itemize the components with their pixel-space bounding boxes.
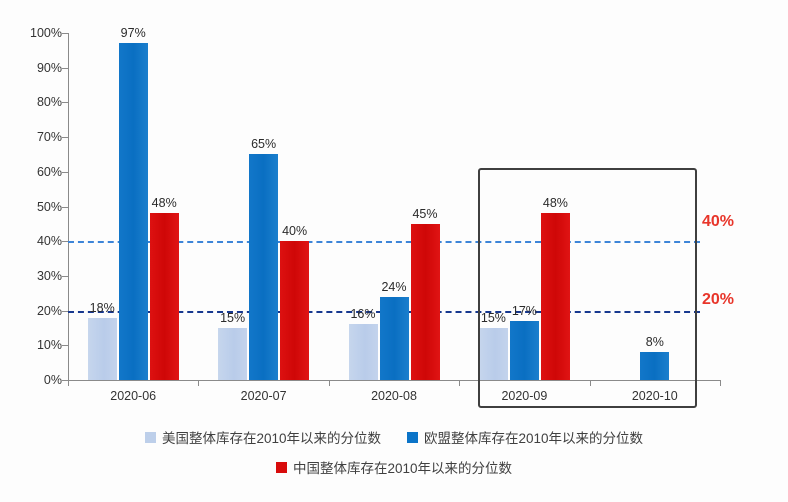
y-tick-label: 80%: [37, 95, 62, 109]
legend-row-1: 美国整体库存在2010年以来的分位数 欧盟整体库存在2010年以来的分位数: [0, 425, 788, 449]
y-tick-label: 20%: [37, 304, 62, 318]
legend-label-eu: 欧盟整体库存在2010年以来的分位数: [424, 427, 643, 447]
legend-item-us[interactable]: 美国整体库存在2010年以来的分位数: [145, 427, 381, 447]
x-axis-label-2020-07: 2020-07: [241, 389, 287, 403]
legend-row-2: 中国整体库存在2010年以来的分位数: [0, 455, 788, 479]
y-tick-label: 0%: [44, 373, 62, 387]
y-tick-label: 30%: [37, 269, 62, 283]
y-tick-label: 10%: [37, 338, 62, 352]
callout-40-percent: 40%: [702, 213, 734, 231]
x-axis-label-2020-08: 2020-08: [371, 389, 417, 403]
legend-swatch-us: [145, 432, 156, 443]
bar-label-cn-2020-08: 45%: [412, 207, 437, 221]
bar-label-eu-2020-07: 65%: [251, 137, 276, 151]
y-tick-label: 100%: [30, 26, 62, 40]
bar-label-eu-2020-08: 24%: [381, 280, 406, 294]
legend-item-cn[interactable]: 中国整体库存在2010年以来的分位数: [276, 457, 512, 477]
x-axis-label-2020-10: 2020-10: [632, 389, 678, 403]
y-tick-mark: [62, 102, 68, 103]
bar-label-us-2020-06: 18%: [90, 301, 115, 315]
legend-label-cn: 中国整体库存在2010年以来的分位数: [293, 457, 512, 477]
x-tick-mark: [198, 380, 199, 386]
bar-label-us-2020-08: 16%: [350, 307, 375, 321]
legend-swatch-eu: [407, 432, 418, 443]
y-tick-mark: [62, 345, 68, 346]
x-tick-mark: [459, 380, 460, 386]
y-tick-mark: [62, 33, 68, 34]
bar-label-cn-2020-06: 48%: [152, 196, 177, 210]
callout-20-percent: 20%: [702, 291, 734, 309]
y-tick-label: 50%: [37, 200, 62, 214]
y-tick-mark: [62, 241, 68, 242]
y-tick-label: 90%: [37, 61, 62, 75]
y-tick-mark: [62, 68, 68, 69]
y-tick-label: 40%: [37, 234, 62, 248]
x-tick-mark: [329, 380, 330, 386]
y-tick-mark: [62, 207, 68, 208]
bar-label-eu-2020-09: 17%: [512, 304, 537, 318]
bar-chart: 0%10%20%30%40%50%60%70%80%90%100% 18%97%…: [0, 0, 788, 502]
y-tick-mark: [62, 172, 68, 173]
legend-item-eu[interactable]: 欧盟整体库存在2010年以来的分位数: [407, 427, 643, 447]
x-axis-label-2020-09: 2020-09: [501, 389, 547, 403]
y-tick-mark: [62, 137, 68, 138]
x-tick-mark: [720, 380, 721, 386]
bar-eu-2020-10[interactable]: [640, 352, 669, 380]
x-axis-label-2020-06: 2020-06: [110, 389, 156, 403]
bar-label-us-2020-09: 15%: [481, 311, 506, 325]
y-tick-mark: [62, 276, 68, 277]
bar-label-eu-2020-10: 8%: [646, 335, 664, 349]
bar-label-cn-2020-07: 40%: [282, 224, 307, 238]
bar-label-cn-2020-09: 48%: [543, 196, 568, 210]
x-tick-mark: [590, 380, 591, 386]
legend-swatch-cn: [276, 462, 287, 473]
x-axis-line: [68, 380, 720, 381]
legend-label-us: 美国整体库存在2010年以来的分位数: [162, 427, 381, 447]
bar-label-eu-2020-06: 97%: [121, 26, 146, 40]
y-tick-mark: [62, 311, 68, 312]
x-tick-mark: [68, 380, 69, 386]
y-tick-label: 60%: [37, 165, 62, 179]
bar-label-us-2020-07: 15%: [220, 311, 245, 325]
y-tick-label: 70%: [37, 130, 62, 144]
